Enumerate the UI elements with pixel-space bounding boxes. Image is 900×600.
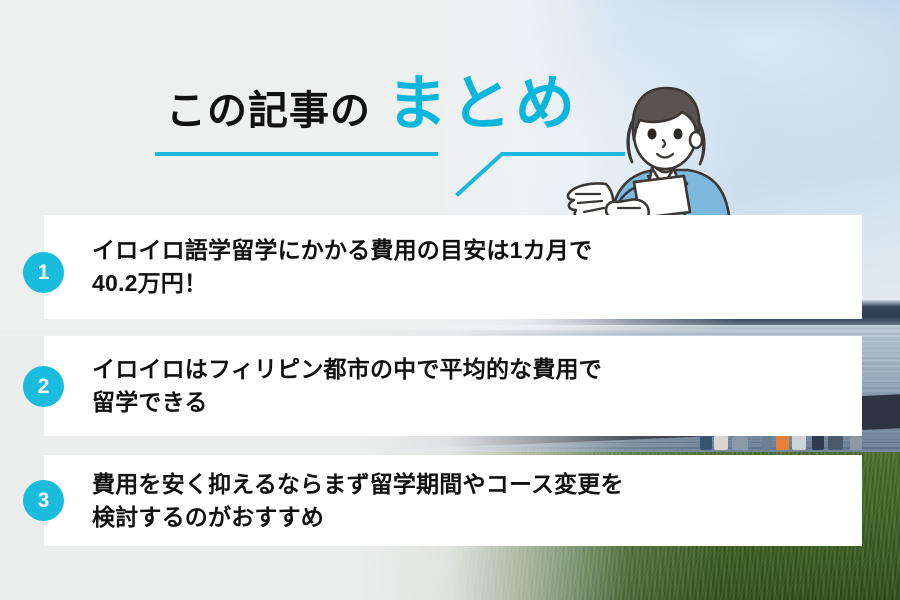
summary-infographic: この記事の まとめ (0, 0, 900, 600)
woman-presenter-illustration (556, 76, 736, 226)
summary-card-3-line-2: 検討するのがおすすめ (92, 501, 850, 534)
page-title: この記事の まとめ (166, 74, 579, 136)
summary-card-3: 費用を安く抑えるならまず留学期間やコース変更を 検討するのがおすすめ (44, 455, 862, 546)
summary-card-1-number-badge: 1 (23, 252, 64, 293)
summary-card-2-number-badge: 2 (23, 366, 64, 407)
title-accent-text: まとめ (387, 74, 579, 134)
summary-card-3-number-badge: 3 (23, 480, 64, 521)
summary-card-3-line-1: 費用を安く抑えるならまず留学期間やコース変更を (92, 468, 850, 501)
summary-card-1-text: イロイロ語学留学にかかる費用の目安は1カ月で 40.2万円！ (44, 234, 862, 299)
summary-card-2-line-2: 留学できる (92, 386, 850, 419)
summary-card-1: イロイロ語学留学にかかる費用の目安は1カ月で 40.2万円！ (44, 215, 862, 319)
summary-card-2: イロイロはフィリピン都市の中で平均的な費用で 留学できる (44, 336, 862, 436)
summary-card-2-line-1: イロイロはフィリピン都市の中で平均的な費用で (92, 353, 850, 386)
title-underline (155, 152, 438, 156)
summary-card-1-line-2: 40.2万円！ (92, 267, 850, 300)
summary-card-3-text: 費用を安く抑えるならまず留学期間やコース変更を 検討するのがおすすめ (44, 468, 862, 533)
title-lead-text: この記事の (166, 78, 371, 136)
summary-card-1-line-1: イロイロ語学留学にかかる費用の目安は1カ月で (92, 234, 850, 267)
summary-card-2-text: イロイロはフィリピン都市の中で平均的な費用で 留学できる (44, 353, 862, 418)
